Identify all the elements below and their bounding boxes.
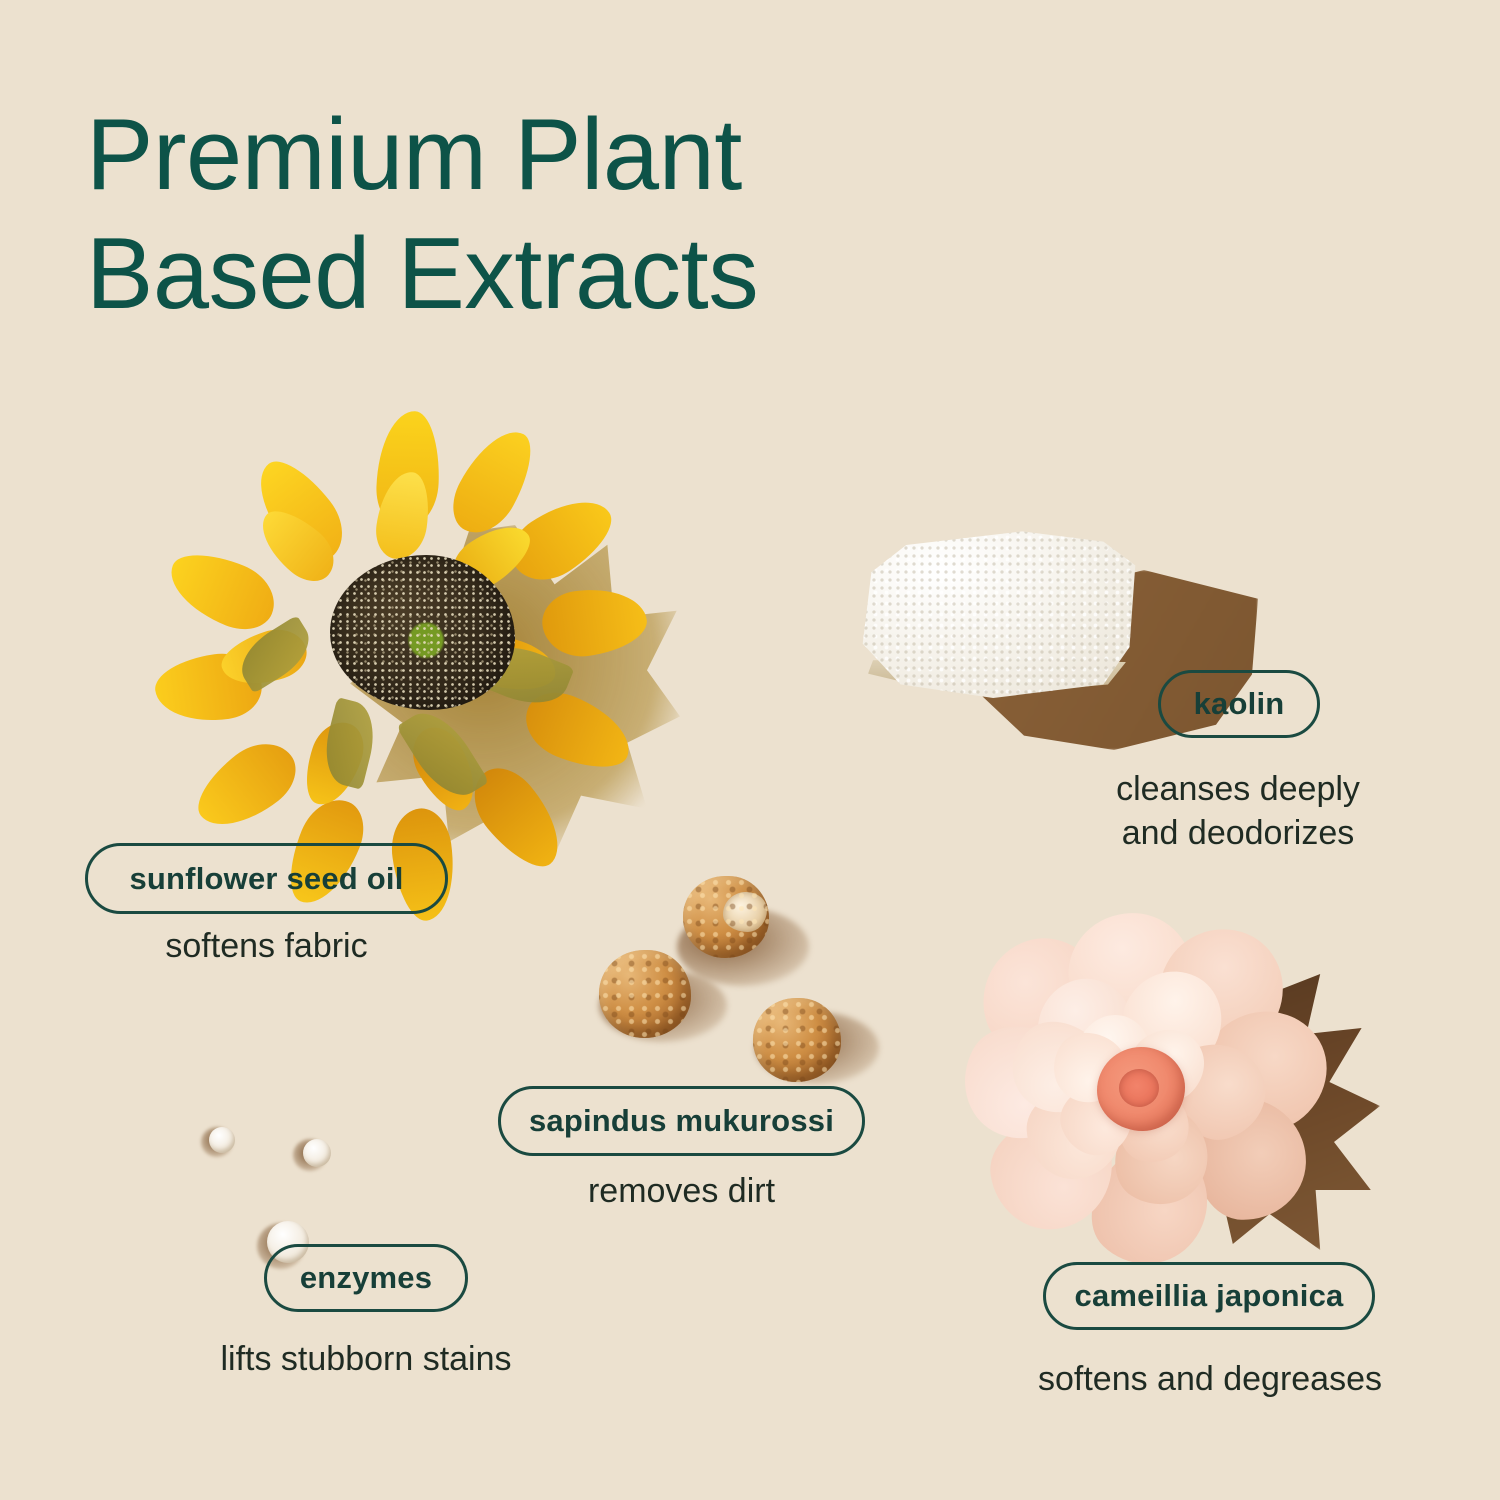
soap-nuts-image: [585, 872, 875, 1092]
soap-nut-seed-cavity: [723, 892, 767, 932]
ingredient-pill-kaolin[interactable]: kaolin: [1158, 670, 1320, 738]
camellia-center-bud: [1097, 1047, 1185, 1131]
page-title: Premium Plant Based Extracts: [86, 96, 986, 334]
sunflower-seed-head: [330, 555, 515, 710]
camellia-flower-image: [965, 905, 1385, 1285]
ingredient-pill-enzymes[interactable]: enzymes: [264, 1244, 468, 1312]
infographic-canvas: Premium Plant Based Extracts: [0, 0, 1500, 1500]
soap-nut-right: [753, 998, 841, 1082]
enzyme-granule-left: [209, 1127, 235, 1153]
ingredient-pill-sunflower-seed-oil[interactable]: sunflower seed oil: [85, 843, 448, 914]
ingredient-pill-sapindus-mukurossi[interactable]: sapindus mukurossi: [498, 1086, 865, 1156]
kaolin-rock: [854, 528, 1144, 698]
ingredient-description-sapindus-mukurossi: removes dirt: [498, 1170, 865, 1214]
ingredient-description-kaolin: cleanses deeply and deodorizes: [1068, 768, 1408, 855]
sunflower-image: [200, 405, 680, 875]
ingredient-description-enzymes: lifts stubborn stains: [186, 1338, 546, 1382]
ingredient-pill-cameillia-japonica[interactable]: cameillia japonica: [1043, 1262, 1375, 1330]
soap-nut-left: [599, 950, 691, 1038]
ingredient-description-sunflower-seed-oil: softens fabric: [85, 925, 448, 969]
ingredient-description-cameillia-japonica: softens and degreases: [1015, 1358, 1405, 1402]
enzyme-granule-right: [303, 1139, 331, 1167]
soap-nut-top: [683, 876, 769, 958]
